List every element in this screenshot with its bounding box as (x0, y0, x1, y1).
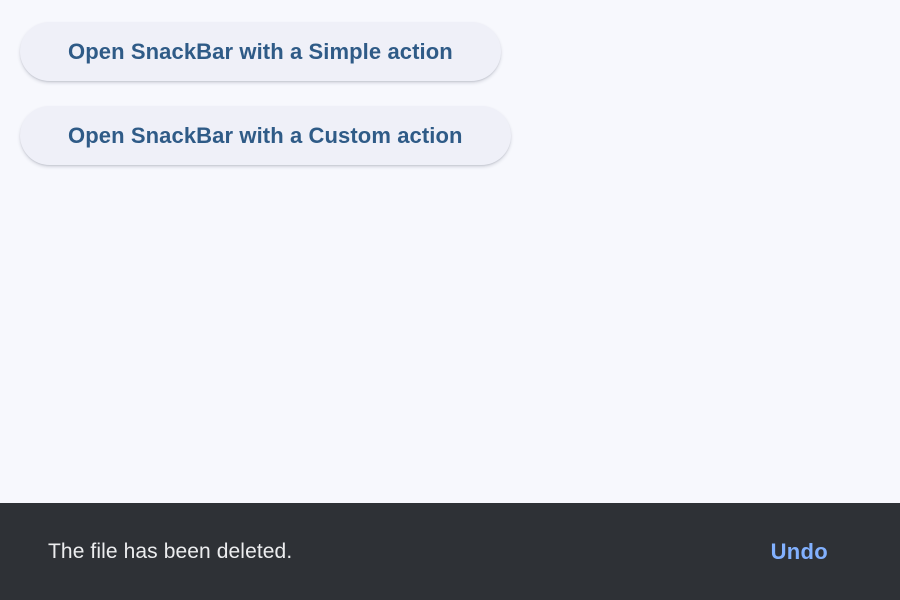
snackbar-undo-button[interactable]: Undo (771, 539, 828, 565)
open-snackbar-simple-action-button[interactable]: Open SnackBar with a Simple action (20, 22, 501, 81)
app-root: Open SnackBar with a Simple action Open … (0, 0, 900, 600)
button-stack: Open SnackBar with a Simple action Open … (0, 0, 511, 165)
snackbar-message: The file has been deleted. (48, 540, 292, 564)
snackbar: The file has been deleted. Undo (0, 503, 900, 600)
open-snackbar-custom-action-button[interactable]: Open SnackBar with a Custom action (20, 106, 511, 165)
